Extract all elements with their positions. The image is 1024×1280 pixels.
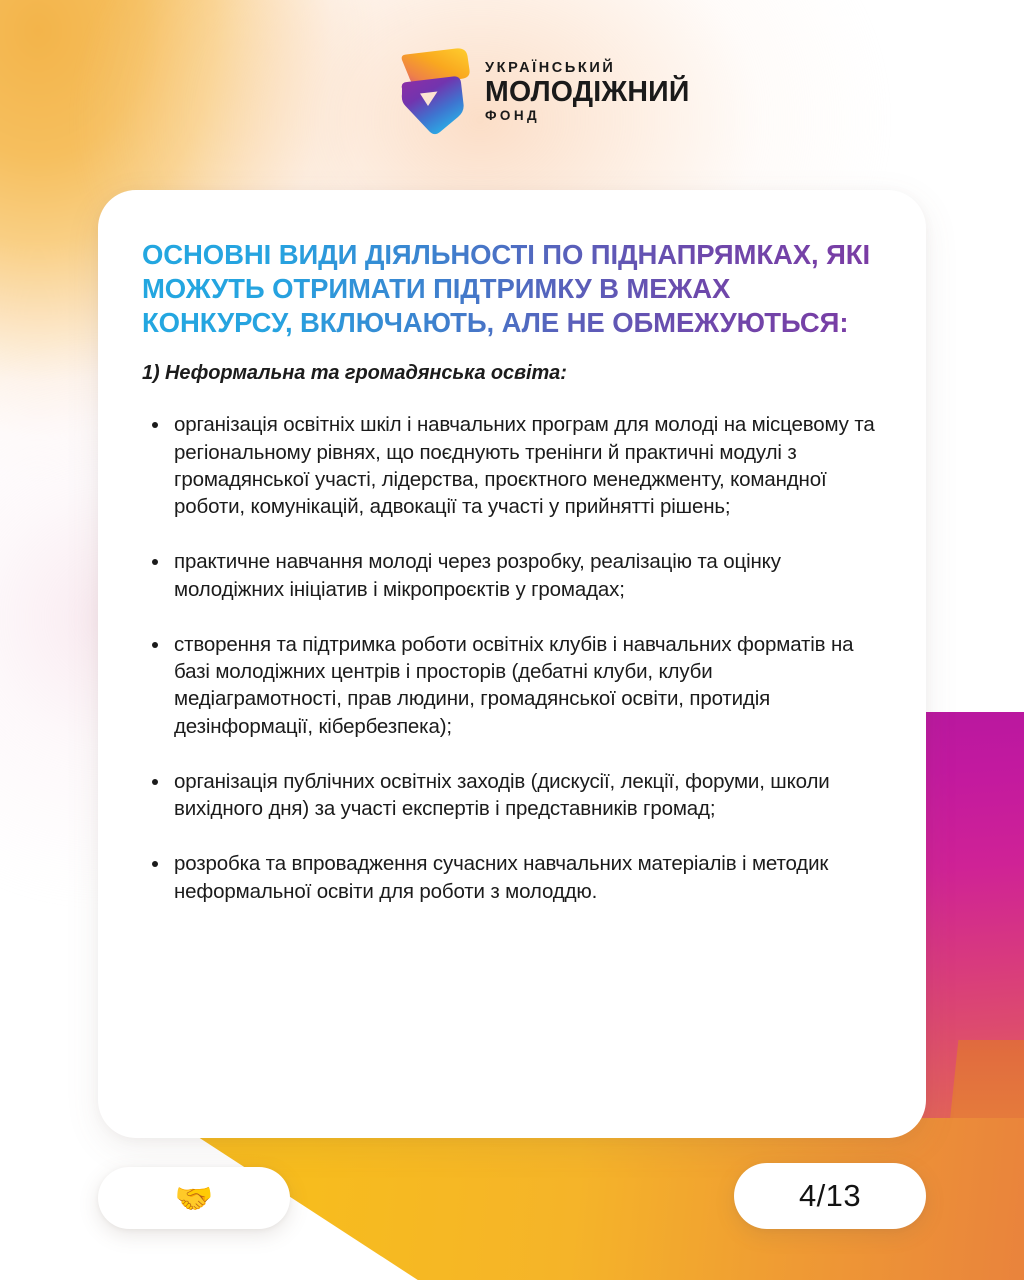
- logo-line-ukrainian: УКРАЇНСЬКИЙ: [485, 61, 690, 76]
- list-item: організація освітніх шкіл і навчальних п…: [142, 411, 884, 520]
- logo-mark-icon: [396, 44, 472, 136]
- logo-line-youth: МОЛОДІЖНИЙ: [485, 78, 690, 107]
- page-counter-pill: 4/13: [734, 1163, 926, 1229]
- page-counter-label: 4/13: [799, 1178, 861, 1214]
- content-card: ОСНОВНІ ВИДИ ДІЯЛЬНОСТІ ПО ПІДНАПРЯМКАХ,…: [98, 190, 926, 1138]
- handshake-pill: 🤝: [98, 1167, 290, 1229]
- card-subtitle: 1) Неформальна та громадянська освіта:: [142, 362, 884, 385]
- logo-wordmark: УКРАЇНСЬКИЙ МОЛОДІЖНИЙ ФОНД: [485, 57, 690, 123]
- list-item: розробка та впровадження сучасних навчал…: [142, 850, 884, 905]
- slide-canvas: УКРАЇНСЬКИЙ МОЛОДІЖНИЙ ФОНД ОСНОВНІ ВИДИ…: [0, 0, 1024, 1280]
- list-item: створення та підтримка роботи освітніх к…: [142, 631, 884, 740]
- handshake-icon: 🤝: [175, 1183, 214, 1214]
- list-item: практичне навчання молоді через розробку…: [142, 548, 884, 603]
- card-heading: ОСНОВНІ ВИДИ ДІЯЛЬНОСТІ ПО ПІДНАПРЯМКАХ,…: [142, 238, 884, 340]
- logo-line-foundation: ФОНД: [485, 109, 690, 123]
- activity-list: організація освітніх шкіл і навчальних п…: [142, 411, 884, 905]
- list-item: організація публічних освітніх заходів (…: [142, 768, 884, 823]
- brand-logo: УКРАЇНСЬКИЙ МОЛОДІЖНИЙ ФОНД: [396, 44, 690, 136]
